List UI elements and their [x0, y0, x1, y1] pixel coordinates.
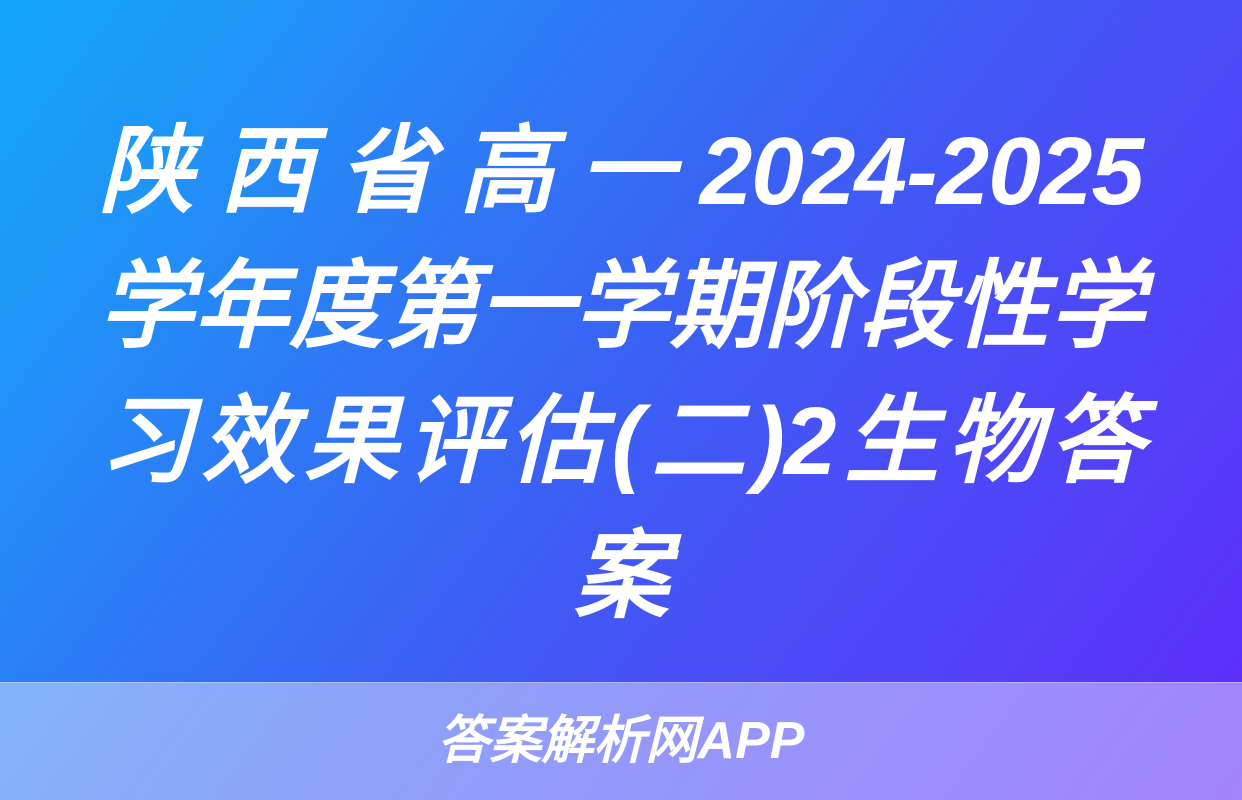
poster-canvas: 陕西省高一2024-2025 学年度第一学期阶段性学 习效果评估(二)2生物答 …: [0, 0, 1242, 800]
title-line-4: 案: [99, 509, 1143, 644]
brand-watermark-label: 答案解析网APP: [438, 715, 805, 767]
page-title: 陕西省高一2024-2025 学年度第一学期阶段性学 习效果评估(二)2生物答 …: [91, 104, 1151, 644]
title-line-3: 习效果评估(二)2生物答: [99, 374, 1143, 509]
title-line-2: 学年度第一学期阶段性学: [99, 239, 1143, 374]
title-line-1: 陕西省高一2024-2025: [99, 104, 1143, 239]
footer-watermark-banner: 答案解析网APP: [0, 682, 1242, 800]
